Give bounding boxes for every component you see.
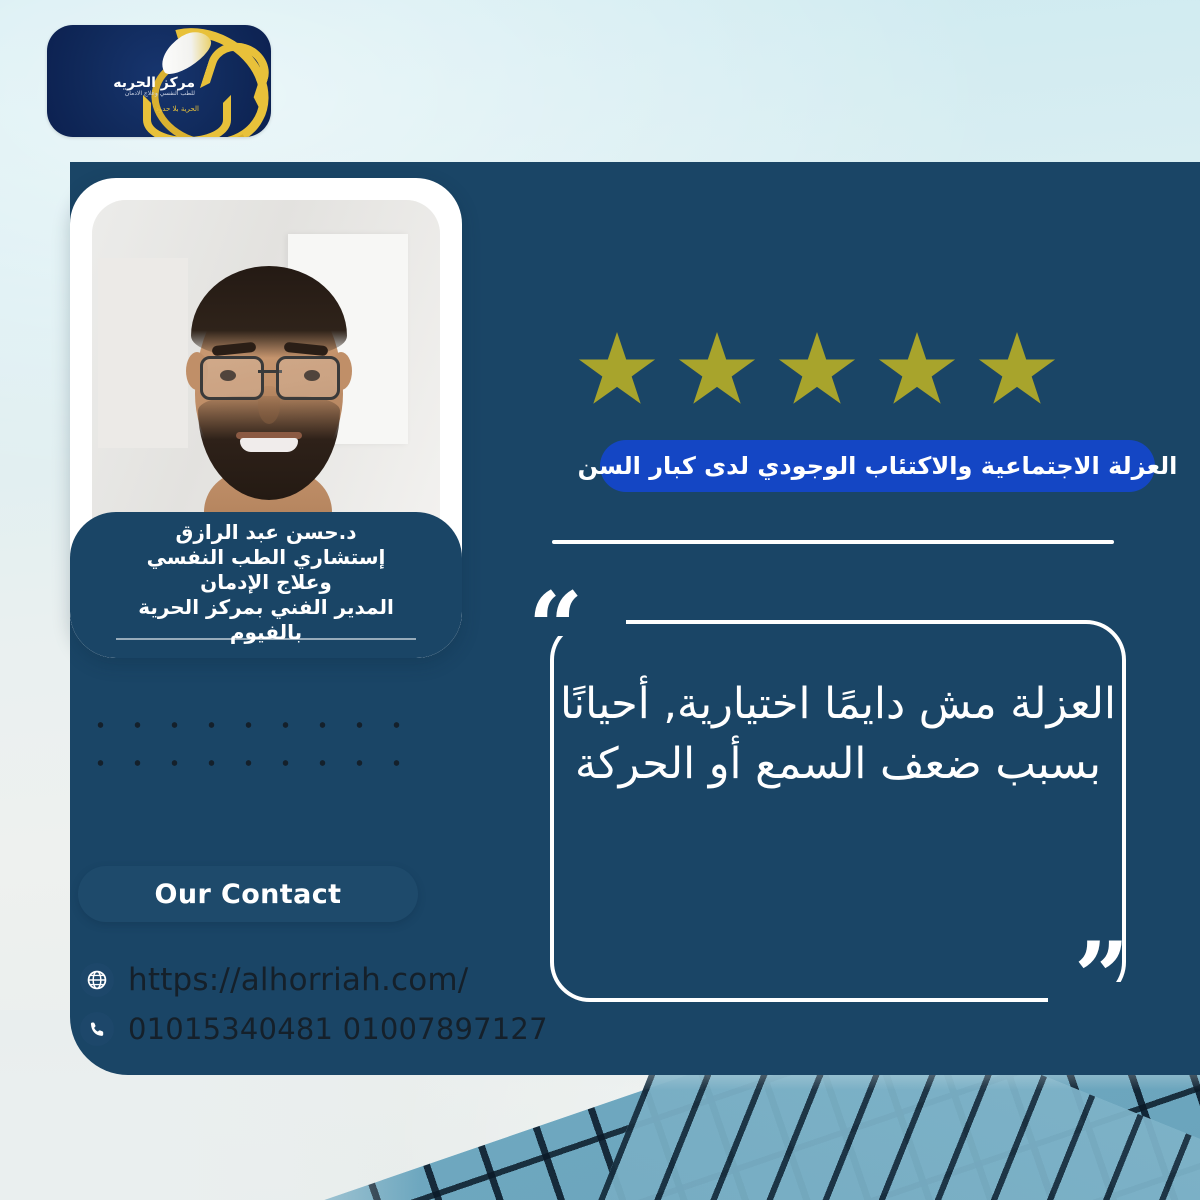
quote-open-mark-icon: “: [528, 598, 583, 658]
poster-canvas: مركز الحريه للطب النفسي وعلاج الادمان ال…: [0, 0, 1200, 1200]
quote-text: العزلة مش دايمًا اختيارية, أحيانًا بسبب …: [546, 674, 1130, 794]
photo-mouth: [240, 438, 298, 452]
globe-icon: [80, 963, 114, 997]
name-underline: [116, 638, 416, 640]
doctor-name-line: إستشاري الطب النفسي: [147, 545, 386, 570]
our-contact-label: Our Contact: [155, 879, 342, 910]
quote-close-mark-icon: ”: [1074, 948, 1129, 1008]
logo-name: مركز الحريه: [65, 75, 195, 91]
logo-tail-icon: [143, 95, 231, 137]
photo-glasses-icon: [200, 356, 340, 396]
logo-subtitle: الحرية بلا حدود: [69, 105, 199, 113]
phone-numbers[interactable]: 01015340481 01007897127: [128, 1012, 548, 1046]
our-contact-heading: Our Contact: [78, 866, 418, 922]
contact-website-row[interactable]: https://alhorriah.com/: [80, 962, 468, 998]
website-url[interactable]: https://alhorriah.com/: [128, 962, 468, 998]
section-divider: [552, 540, 1114, 544]
brand-logo[interactable]: مركز الحريه للطب النفسي وعلاج الادمان ال…: [47, 25, 271, 137]
star-icon: [678, 332, 756, 410]
topic-title-banner: العزلة الاجتماعية والاكتئاب الوجودي لدى …: [600, 440, 1155, 492]
star-icon: [778, 332, 856, 410]
dot-grid-decoration: [78, 700, 418, 792]
contact-phone-row[interactable]: 01015340481 01007897127: [80, 1012, 548, 1046]
glasses-lens-left: [200, 356, 264, 400]
rating-stars: [578, 332, 1056, 410]
quote-block: “ ” العزلة مش دايمًا اختيارية, أحيانًا ب…: [528, 596, 1148, 1016]
doctor-name-line: بالفيوم: [230, 620, 302, 645]
doctor-name-line: المدير الفني بمركز الحرية: [138, 595, 394, 620]
glasses-lens-right: [276, 356, 340, 400]
star-icon: [878, 332, 956, 410]
doctor-card: د.حسن عبد الرازق إستشاري الطب النفسي وعل…: [70, 178, 462, 658]
star-icon: [978, 332, 1056, 410]
phone-icon: [80, 1012, 114, 1046]
photo-wall-left: [98, 258, 188, 448]
logo-tagline: للطب النفسي وعلاج الادمان: [65, 90, 195, 97]
star-icon: [578, 332, 656, 410]
doctor-name-line: وعلاج الإدمان: [200, 570, 332, 595]
topic-title-text: العزلة الاجتماعية والاكتئاب الوجودي لدى …: [578, 452, 1178, 480]
doctor-name-block: د.حسن عبد الرازق إستشاري الطب النفسي وعل…: [70, 512, 462, 658]
doctor-name-line: د.حسن عبد الرازق: [176, 520, 357, 545]
